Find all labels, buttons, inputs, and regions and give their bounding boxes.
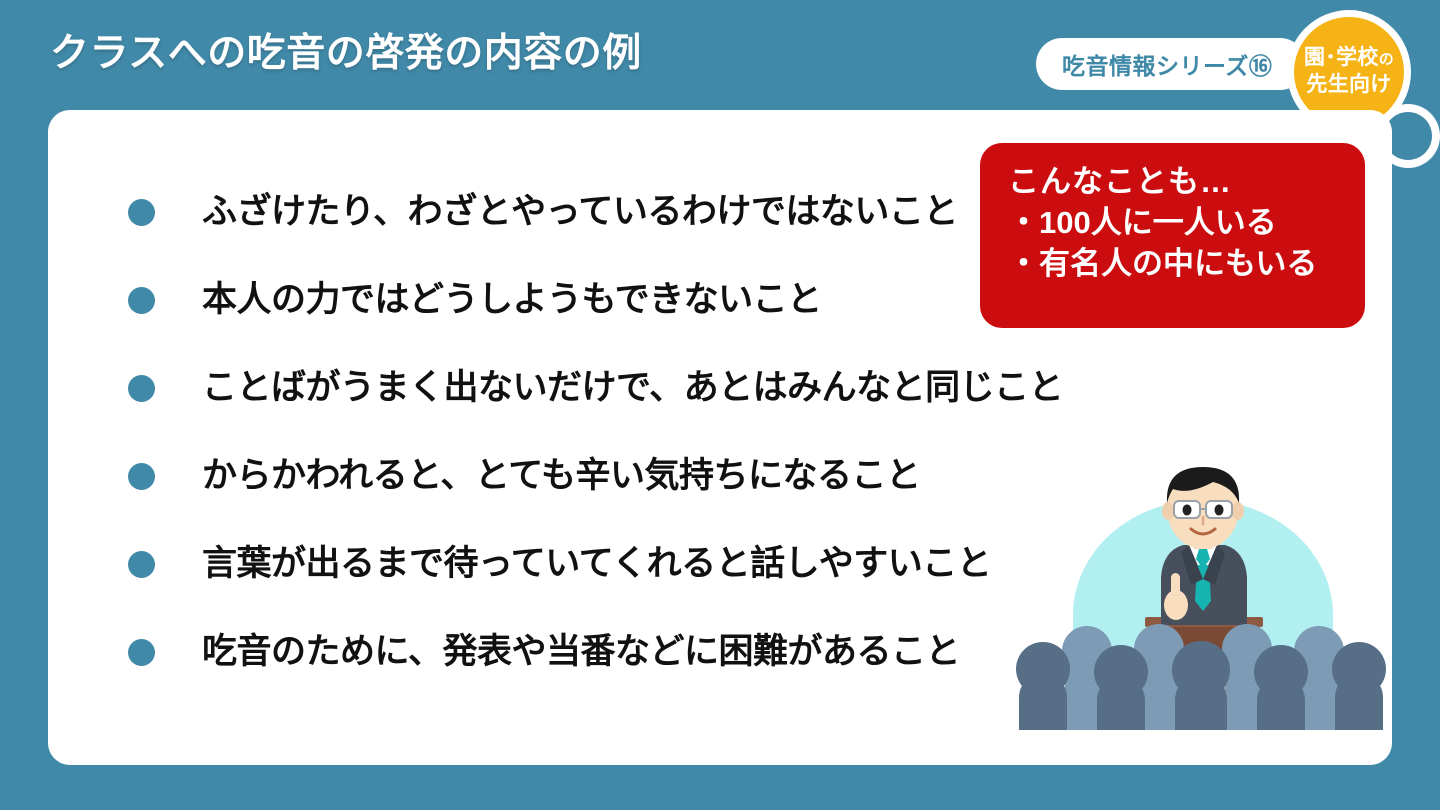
audience-badge-line1-main: 園･学校 — [1304, 46, 1379, 69]
callout-heading: こんなことも… — [1008, 161, 1365, 202]
bullet-dot-icon — [128, 551, 155, 578]
series-badge: 吃音情報シリーズ⑯ — [1036, 38, 1306, 90]
bullet-dot-icon — [128, 463, 155, 490]
slide-root: クラスへの吃音の啓発の内容の例 吃音情報シリーズ⑯ 園･学校の 先生向け ふざけ… — [0, 0, 1440, 810]
callout-line-2: ・有名人の中にもいる — [1008, 243, 1365, 284]
audience-badge-line1: 園･学校の — [1304, 45, 1394, 72]
list-item: ふざけたり、わざとやっているわけではないこと — [128, 168, 1068, 256]
bullet-dot-icon — [128, 375, 155, 402]
list-item-label: からかわれると、とても辛い気持ちになること — [202, 457, 921, 496]
callout-line-1: ・100人に一人いる — [1008, 202, 1365, 243]
list-item: 吃音のために、発表や当番などに困難があること — [128, 608, 1068, 696]
list-item: 本人の力ではどうしようもできないこと — [128, 256, 1068, 344]
audience-badge-line2: 先生向け — [1306, 72, 1391, 99]
callout-box: こんなことも… ・100人に一人いる ・有名人の中にもいる — [980, 143, 1365, 328]
list-item-label: 言葉が出るまで待っていてくれると話しやすいこと — [202, 545, 991, 584]
list-item: ことばがうまく出ないだけで、あとはみんなと同じこと — [128, 344, 1068, 432]
page-title: クラスへの吃音の啓発の内容の例 — [50, 32, 642, 77]
bullet-dot-icon — [128, 639, 155, 666]
bullet-list: ふざけたり、わざとやっているわけではないこと 本人の力ではどうしようもできないこ… — [128, 168, 1068, 696]
list-item-label: 吃音のために、発表や当番などに困難があること — [202, 633, 960, 672]
audience-badge-line1-suffix: の — [1379, 51, 1394, 68]
bullet-dot-icon — [128, 199, 155, 226]
series-badge-label: 吃音情報シリーズ⑯ — [1062, 47, 1272, 81]
speaker-at-podium-illustration — [1013, 465, 1392, 730]
list-item-label: ことばがうまく出ないだけで、あとはみんなと同じこと — [202, 369, 1063, 408]
list-item: 言葉が出るまで待っていてくれると話しやすいこと — [128, 520, 1068, 608]
list-item-label: ふざけたり、わざとやっているわけではないこと — [202, 193, 958, 232]
bullet-dot-icon — [128, 287, 155, 314]
list-item: からかわれると、とても辛い気持ちになること — [128, 432, 1068, 520]
list-item-label: 本人の力ではどうしようもできないこと — [202, 281, 822, 320]
content-card: ふざけたり、わざとやっているわけではないこと 本人の力ではどうしようもできないこ… — [48, 110, 1392, 765]
